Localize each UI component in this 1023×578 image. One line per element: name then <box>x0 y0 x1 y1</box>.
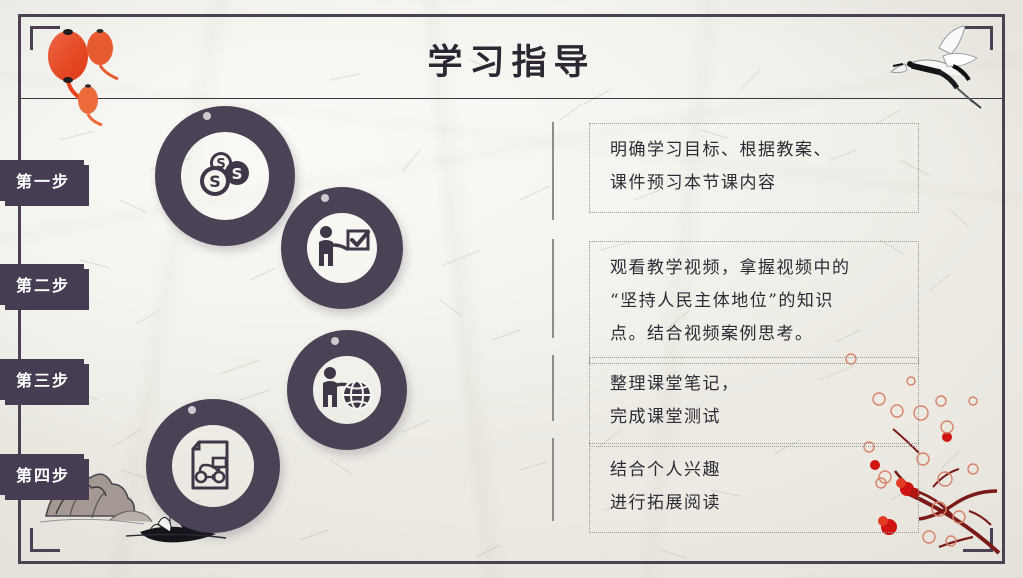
step-2-line-2: “坚持人民主体地位”的知识 <box>610 285 902 318</box>
step-textbox-1: 明确学习目标、根据教案、 课件预习本节课内容 <box>589 123 919 213</box>
step-circle-1: S S S <box>155 106 295 246</box>
coins-icon: S S S <box>195 149 255 203</box>
step-badge-3-label: 第三步 <box>0 359 84 400</box>
step-circle-3 <box>287 330 407 450</box>
step-badge-3[interactable]: 第三步 <box>0 359 84 400</box>
step-connector-4 <box>552 438 554 521</box>
presenter-globe-icon <box>319 365 375 415</box>
step-connector-3 <box>552 355 554 421</box>
svg-text:S: S <box>232 165 243 183</box>
step-textbox-3: 整理课堂笔记， 完成课堂测试 <box>589 357 919 447</box>
step-badge-4[interactable]: 第四步 <box>0 454 84 495</box>
step-badge-2[interactable]: 第二步 <box>0 264 84 305</box>
ring-dot <box>331 337 339 345</box>
step-connector-2 <box>552 239 554 338</box>
step-circle-4 <box>146 399 280 533</box>
step-3-line-2: 完成课堂测试 <box>610 401 902 434</box>
step-1-line-1: 明确学习目标、根据教案、 <box>610 134 902 167</box>
step-circle-2 <box>281 187 403 309</box>
step-4-line-2: 进行拓展阅读 <box>610 487 902 520</box>
page-title: 学习指导 <box>0 34 1023 85</box>
step-badge-2-label: 第二步 <box>0 264 84 305</box>
ring-dot <box>188 406 196 414</box>
ring-dot <box>321 194 329 202</box>
step-badge-1[interactable]: 第一步 <box>0 160 84 201</box>
step-1-line-2: 课件预习本节课内容 <box>610 167 902 200</box>
presenter-checklist-icon <box>313 223 371 273</box>
step-badge-4-label: 第四步 <box>0 454 84 495</box>
document-flowchart-icon <box>187 438 239 494</box>
step-textbox-4: 结合个人兴趣 进行拓展阅读 <box>589 443 919 533</box>
header-divider <box>21 98 1002 99</box>
step-2-line-3: 点。结合视频案例思考。 <box>610 318 902 351</box>
step-badge-1-label: 第一步 <box>0 160 84 201</box>
slide-canvas: 学习指导 <box>0 0 1023 578</box>
step-2-line-1: 观看教学视频，拿握视频中的 <box>610 252 902 285</box>
svg-text:S: S <box>209 172 221 191</box>
step-textbox-2: 观看教学视频，拿握视频中的 “坚持人民主体地位”的知识 点。结合视频案例思考。 <box>589 241 919 364</box>
step-4-line-1: 结合个人兴趣 <box>610 454 902 487</box>
step-connector-1 <box>552 122 554 220</box>
ring-dot <box>203 112 211 120</box>
step-3-line-1: 整理课堂笔记， <box>610 368 902 401</box>
